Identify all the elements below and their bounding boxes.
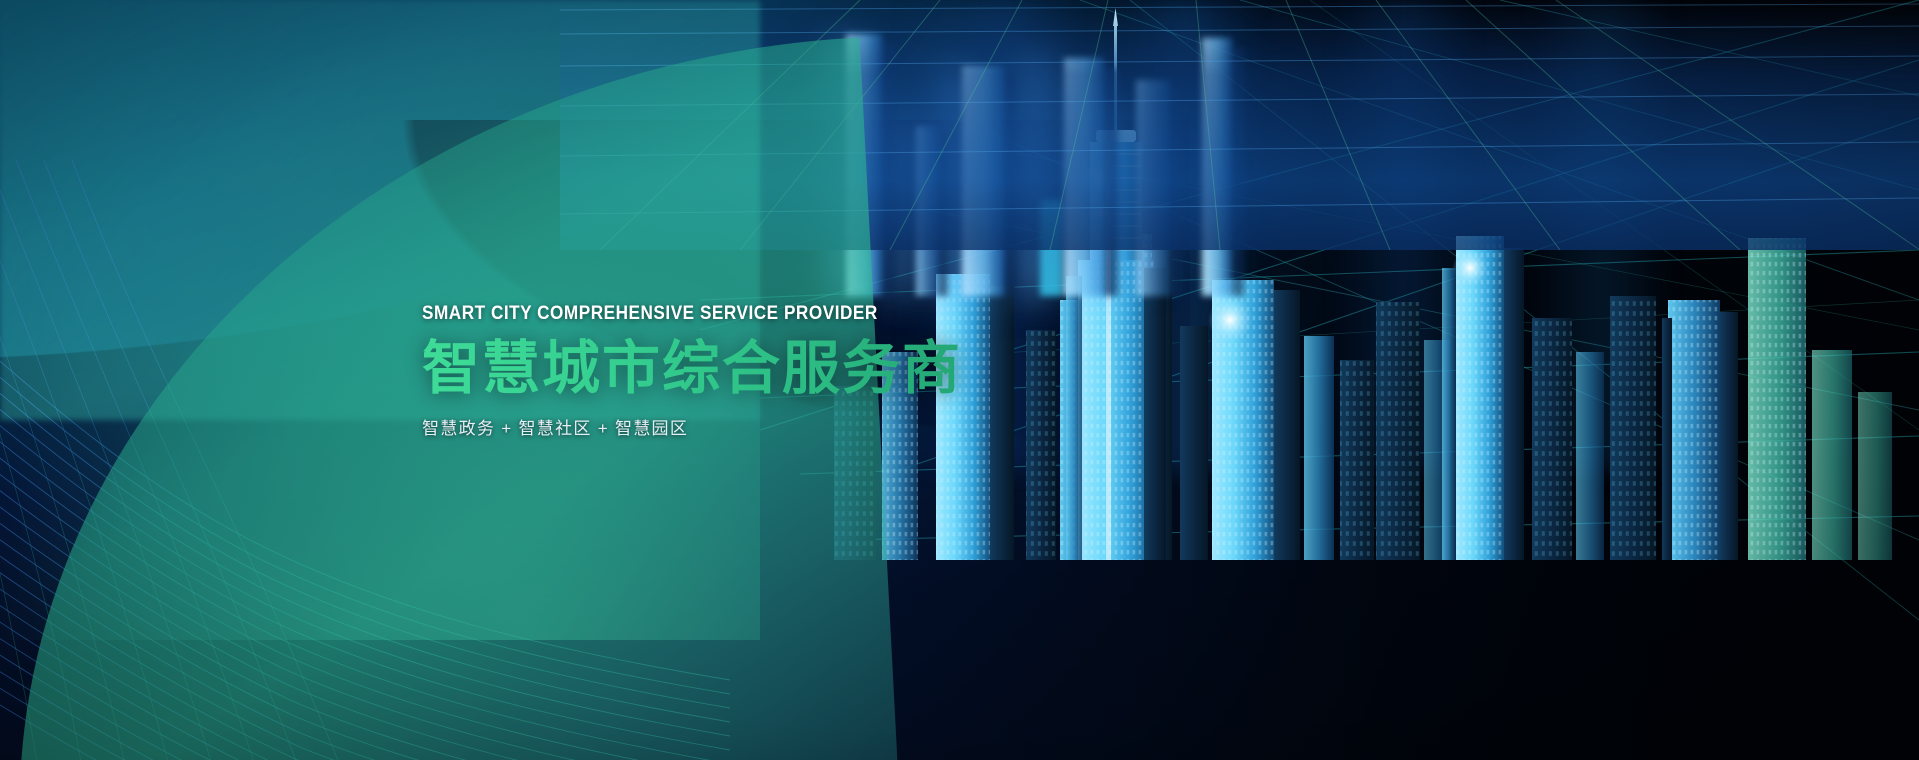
city-skyline-illustration <box>820 0 1919 560</box>
foreground-bars <box>830 0 1390 330</box>
perspective-ground-grid <box>560 0 1919 250</box>
foreground-bars-glow <box>820 0 1240 300</box>
hero-eyebrow-english: SMART CITY COMPREHENSIVE SERVICE PROVIDE… <box>422 304 1091 324</box>
hero-headline-chinese: 智慧城市综合服务商 <box>422 338 1182 401</box>
ground-light-glow <box>620 0 1320 300</box>
hero-subline-services: 智慧政务 + 智慧社区 + 智慧园区 <box>422 414 1182 439</box>
left-line-mesh-decoration <box>0 180 730 760</box>
hero-text-block: SMART CITY COMPREHENSIVE SERVICE PROVIDE… <box>422 304 1182 439</box>
hero-banner: SMART CITY COMPREHENSIVE SERVICE PROVIDE… <box>0 0 1919 760</box>
